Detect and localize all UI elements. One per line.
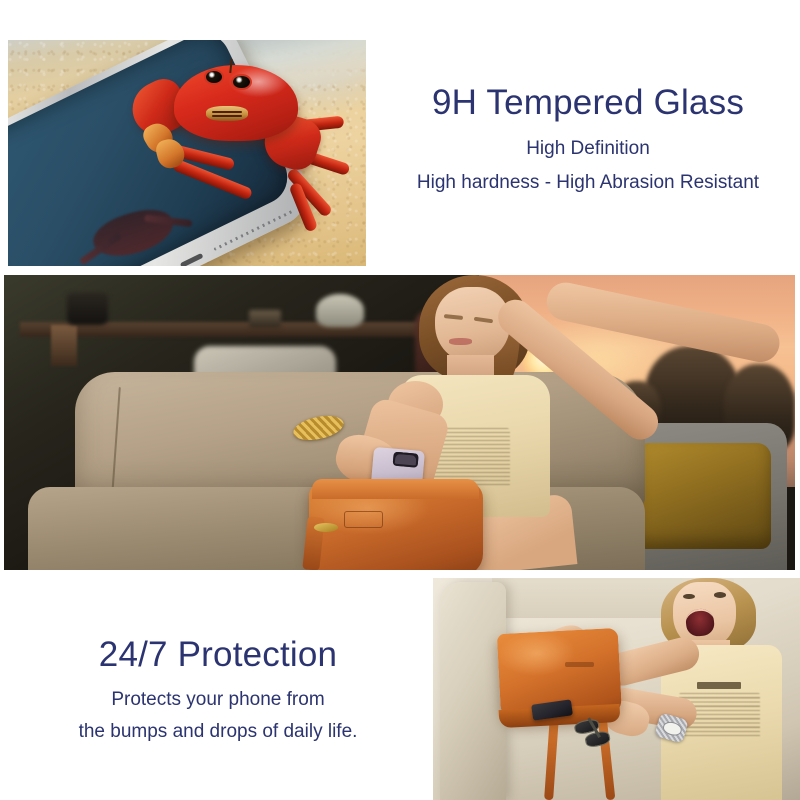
gutter-right [795,275,800,570]
headline-subtitle-hardness: High hardness - High Abrasion Resistant [382,171,794,196]
crab-on-phone-photo [8,40,366,266]
crab-eye-right [233,76,249,88]
protection-title: 24/7 Protection [18,634,418,675]
background-vase-white [316,294,363,326]
background-box [249,310,281,328]
protection-subtitle-line2: the bumps and drops of daily life. [18,719,418,745]
crab-shell [174,65,299,141]
handbag-logo [565,662,594,666]
red-crab [140,58,348,230]
headline-text-block-overlay: 9H Tempered Glass High Definition High h… [382,82,794,196]
protection-text-block-overlay: 24/7 Protection Protects your phone from… [18,634,418,745]
background-vase-dark [67,293,108,325]
product-banner: 9H Tempered Glass High Definition High h… [0,0,800,800]
crab-antenna [229,59,232,73]
background-shelf-leg [51,325,76,366]
gutter-left [0,275,4,570]
crab-mouth [206,106,248,121]
spilling-bag-photo [433,578,800,800]
tank-top-brand-word [697,682,741,689]
woman-lips [449,338,473,344]
shocked-woman-eye [714,592,726,598]
gutter-bottom [0,570,800,578]
handbag-top-flap [312,479,478,500]
sofa-armrest [4,428,194,570]
protection-subtitle-line1: Protects your phone from [18,687,418,713]
headline-subtitle-definition: High Definition [382,137,794,162]
sofa-sunset-photo [4,275,795,570]
headline-title: 9H Tempered Glass [382,82,794,123]
handbag-zipper-pull [314,523,338,532]
cream-sofa-armrest [440,582,506,800]
gutter-top-left-edge [0,0,8,266]
gutter-header [0,0,800,40]
handbag-leather-tag [344,511,382,528]
mustard-throw-pillow [637,443,771,549]
crab-eye-left [206,71,222,83]
gutter-top [0,266,800,275]
